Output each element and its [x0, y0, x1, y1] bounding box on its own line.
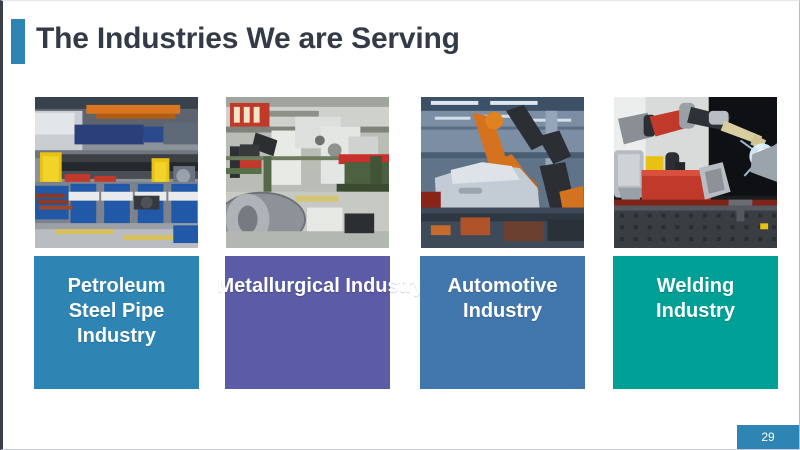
industry-card-welding[interactable]: Welding Industry [613, 96, 778, 249]
industry-card-caption-welding: Welding Industry [613, 256, 778, 389]
industry-card-metallurgical[interactable]: Metallurgical Industry [225, 96, 390, 249]
page-number-text: 29 [761, 430, 774, 444]
page-number-badge: 29 [737, 425, 799, 449]
welding-robot-photo [613, 96, 778, 249]
slide-title-bar: The Industries We are Serving [3, 15, 799, 67]
title-accent-bar [11, 19, 25, 64]
industry-card-caption-petroleum: Petroleum Steel Pipe Industry [34, 256, 199, 389]
slide-canvas: The Industries We are Serving [0, 0, 800, 450]
industry-card-caption-metallurgical: Metallurgical Industry [225, 256, 390, 389]
industry-card-caption-automotive: Automotive Industry [420, 256, 585, 389]
industry-card-petroleum[interactable]: Petroleum Steel Pipe Industry [34, 96, 199, 249]
steel-pipe-factory-photo [34, 96, 199, 249]
industry-label: Welding Industry [656, 274, 735, 324]
industry-label: Automotive Industry [448, 274, 558, 324]
industry-card-automotive[interactable]: Automotive Industry [420, 96, 585, 249]
industry-label: Petroleum Steel Pipe Industry [68, 274, 166, 349]
page-title: The Industries We are Serving [36, 15, 460, 63]
metallurgical-plant-photo [225, 96, 390, 249]
industry-label: Metallurgical Industry [218, 274, 398, 299]
automotive-assembly-photo [420, 96, 585, 249]
